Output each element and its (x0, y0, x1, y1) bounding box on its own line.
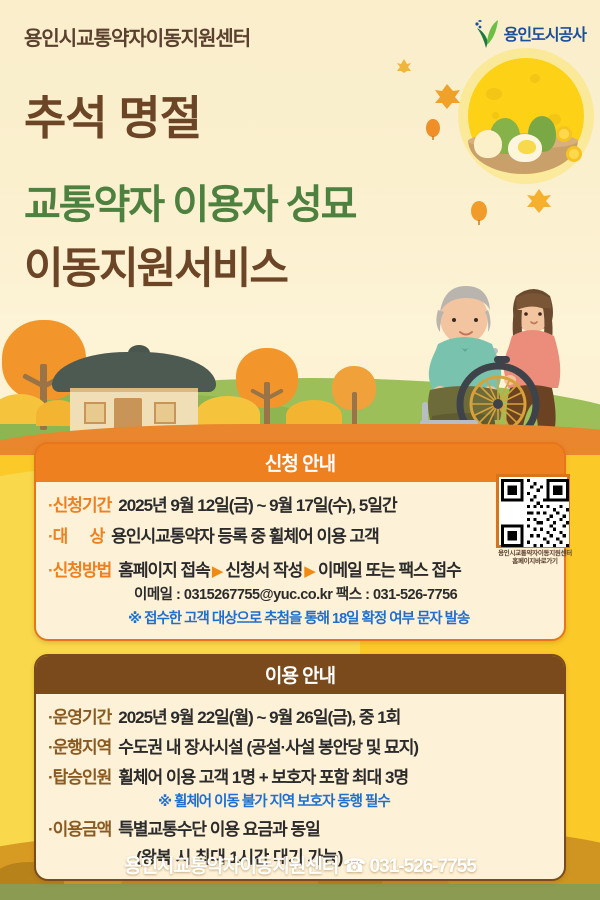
autumn-leaf-icon-3 (526, 188, 552, 214)
qr-code-block[interactable]: 용인시교통약자이동지원센터 홈페이지바로가기 (496, 474, 574, 566)
usage-capacity-label: ·탑승인원 (48, 763, 111, 788)
usage-period-row: ·운영기간 2025년 9월 22일(월) ~ 9월 26일(금), 중 1회 (48, 703, 552, 728)
apply-target-row: ·대 상 용인시교통약자 등록 중 휠체어 이용 고객 (48, 522, 552, 547)
apply-info-card: 신청 안내 ·신청기간 2025년 9월 12일(금) ~ 9월 17일(수),… (34, 442, 566, 641)
apply-contact-line: 이메일 : 0315267755@yuc.co.kr 팩스 : 031-526-… (134, 583, 552, 604)
logo-label: 용인도시공사 (504, 21, 586, 45)
usage-fee-label: ·이용금액 (48, 815, 111, 840)
wheelchair-user-and-caregiver-icon (398, 252, 598, 452)
flower-icon-2 (566, 146, 582, 162)
usage-card-heading: 이용 안내 (36, 656, 564, 694)
usage-capacity-row: ·탑승인원 휠체어 이용 고객 1명 + 보호자 포함 최대 3명 (48, 763, 552, 788)
usage-fee-row: ·이용금액 특별교통수단 이용 요금과 동일 (48, 815, 552, 840)
usage-fee-value: 특별교통수단 이용 요금과 동일 (118, 815, 320, 840)
apply-method-label: ·신청방법 (48, 556, 111, 581)
usage-area-label: ·운행지역 (48, 733, 111, 758)
usage-note: ※ 휠체어 이동 불가 지역 보호자 동행 필수 (158, 790, 552, 811)
title-line-1: 추석 명절 (24, 82, 201, 148)
bush-4 (286, 400, 342, 426)
apply-method-row: ·신청방법 홈페이지 접속 ▶ 신청서 작성 ▶ 이메일 또는 팩스 접수 (48, 556, 552, 581)
hanok-house-icon (58, 352, 210, 430)
apply-method-step-1: 홈페이지 접속 (118, 556, 210, 581)
usage-area-row: ·운행지역 수도권 내 장사시설 (공설·사설 봉안당 및 묘지) (48, 733, 552, 758)
arrow-right-icon-1: ▶ (210, 562, 226, 580)
apply-period-label: ·신청기간 (48, 491, 111, 516)
songpyeon-cream-1 (474, 130, 502, 158)
apply-method-step-3: 이메일 또는 팩스 접수 (318, 556, 461, 581)
title-line-3: 이동지원서비스 (24, 234, 287, 296)
usage-period-label: ·운영기간 (48, 703, 111, 728)
poster-root: 용인시교통약자이동지원센터 용인도시공사 추석 명절 교통약자 이용자 성묘 이… (0, 0, 600, 900)
autumn-leaf-icon-2 (424, 118, 442, 140)
qr-caption-line-1: 용인시교통약자이동지원센터 (496, 550, 574, 558)
apply-card-heading: 신청 안내 (36, 444, 564, 482)
footer-contact: 용인시교통약자이동지원센터 ☎ 031-526-7755 (0, 851, 600, 878)
usage-capacity-value: 휠체어 이용 고객 1명 + 보호자 포함 최대 3명 (118, 763, 408, 788)
page-title: 용인시교통약자이동지원센터 (24, 22, 250, 51)
usage-period-value: 2025년 9월 22일(월) ~ 9월 26일(금), 중 1회 (118, 703, 400, 728)
title-line-2: 교통약자 이용자 성묘 (24, 172, 355, 230)
apply-period-row: ·신청기간 2025년 9월 12일(금) ~ 9월 17일(수), 5일간 (48, 491, 552, 516)
apply-card-body: ·신청기간 2025년 9월 12일(금) ~ 9월 17일(수), 5일간 ·… (36, 482, 564, 639)
usage-area-value: 수도권 내 장사시설 (공설·사설 봉안당 및 묘지) (118, 733, 418, 758)
songpyeon-yolk (518, 140, 536, 154)
qr-code-icon[interactable] (496, 474, 570, 548)
usage-info-card: 이용 안내 ·운영기간 2025년 9월 22일(월) ~ 9월 26일(금),… (34, 654, 566, 881)
autumn-leaf-icon-4 (468, 200, 490, 226)
arrow-right-icon-2: ▶ (302, 562, 318, 580)
apply-note: ※ 접수한 고객 대상으로 추첨을 통해 18일 확정 여부 문자 발송 (128, 607, 552, 628)
autumn-leaf-icon-5 (396, 58, 412, 74)
apply-method-step-2: 신청서 작성 (225, 556, 302, 581)
apply-target-label: ·대 상 (48, 522, 104, 547)
yongin-y-mark-icon (473, 18, 499, 48)
qr-caption-line-2: 홈페이지바로가기 (496, 558, 574, 566)
apply-target-value: 용인시교통약자 등록 중 휠체어 이용 고객 (111, 522, 379, 547)
bottom-green-strip (0, 884, 600, 900)
company-logo: 용인도시공사 (473, 18, 586, 48)
autumn-leaf-icon-1 (432, 82, 462, 110)
apply-period-value: 2025년 9월 12일(금) ~ 9월 17일(수), 5일간 (118, 491, 396, 516)
flower-icon-1 (556, 126, 572, 142)
